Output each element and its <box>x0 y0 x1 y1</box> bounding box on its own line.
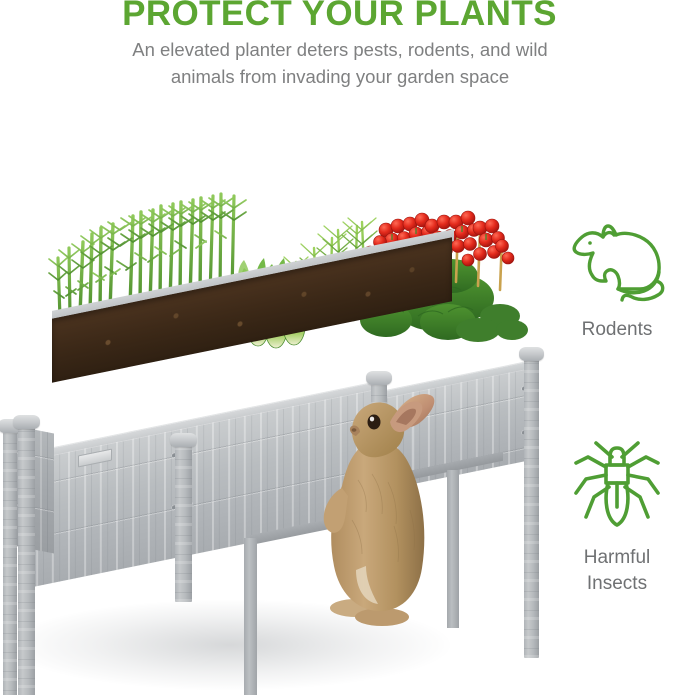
feature-rodents: Rodents <box>556 215 678 343</box>
marketing-image: PROTECT YOUR PLANTS An elevated planter … <box>0 0 679 695</box>
planter-leg-back-left <box>3 430 17 695</box>
post-cap <box>13 415 40 429</box>
feature-rodents-label: Rodents <box>556 317 678 343</box>
planter-post-far-right <box>524 358 539 658</box>
rabbit-nose <box>352 428 357 432</box>
insect-icon <box>570 435 664 535</box>
feature-insects-label: Harmful Insects <box>556 545 678 597</box>
feature-insects-label-line-1: Harmful <box>584 547 651 568</box>
rabbit-eye <box>368 415 381 430</box>
planter-post-front-left <box>18 426 35 695</box>
subtitle: An elevated planter deters pests, rodent… <box>60 36 620 90</box>
post-cap <box>519 347 544 361</box>
subtitle-line-2: animals from invading your garden space <box>60 63 620 90</box>
planter-post-mid-left <box>175 444 192 602</box>
post-cap <box>170 433 197 447</box>
page-title: PROTECT YOUR PLANTS <box>0 0 679 32</box>
product-photo <box>0 130 560 695</box>
rabbit-body <box>331 440 424 611</box>
rodent-icon <box>566 215 668 307</box>
planter-leg-rear-middle <box>244 538 257 695</box>
feature-insects-label-line-2: Insects <box>556 571 678 597</box>
rabbit-eye-highlight <box>370 417 374 422</box>
feature-rodents-label-line-1: Rodents <box>582 319 653 340</box>
feature-insects: Harmful Insects <box>556 435 678 597</box>
subtitle-line-1: An elevated planter deters pests, rodent… <box>132 39 547 60</box>
rabbit <box>298 370 448 630</box>
planter-leg-rear-right <box>447 470 459 628</box>
